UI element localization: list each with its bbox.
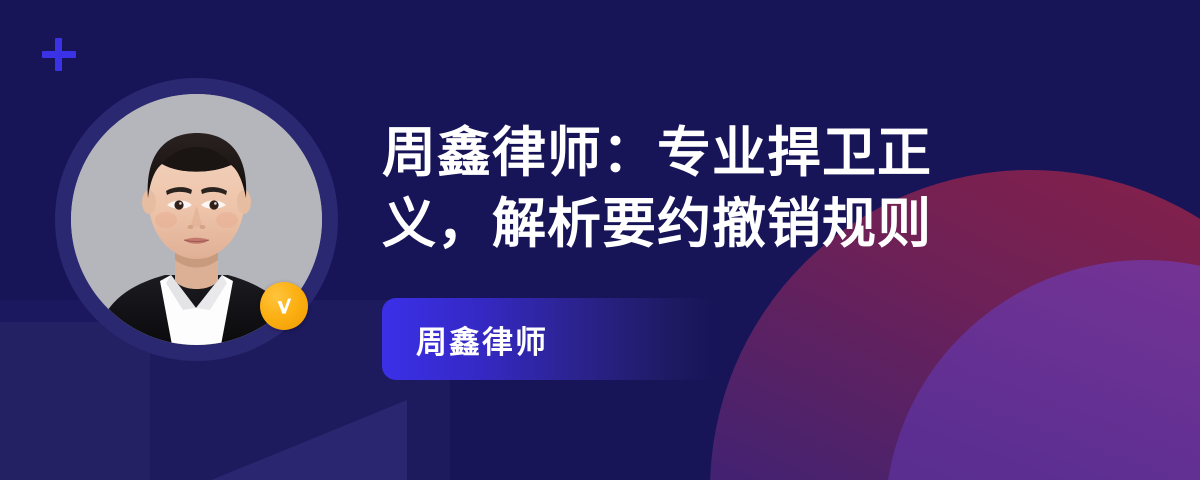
author-chip[interactable]: 周鑫律师	[382, 298, 716, 380]
banner-content: 周鑫律师：专业捍卫正 义，解析要约撤销规则 周鑫律师	[382, 118, 1022, 260]
plus-icon	[40, 35, 78, 73]
avatar[interactable]	[55, 78, 338, 361]
article-banner: 周鑫律师：专业捍卫正 义，解析要约撤销规则 周鑫律师	[0, 0, 1200, 480]
author-name-label: 周鑫律师	[382, 317, 548, 362]
page-title: 周鑫律师：专业捍卫正 义，解析要约撤销规则	[382, 118, 1022, 260]
verified-badge-icon	[260, 282, 308, 330]
